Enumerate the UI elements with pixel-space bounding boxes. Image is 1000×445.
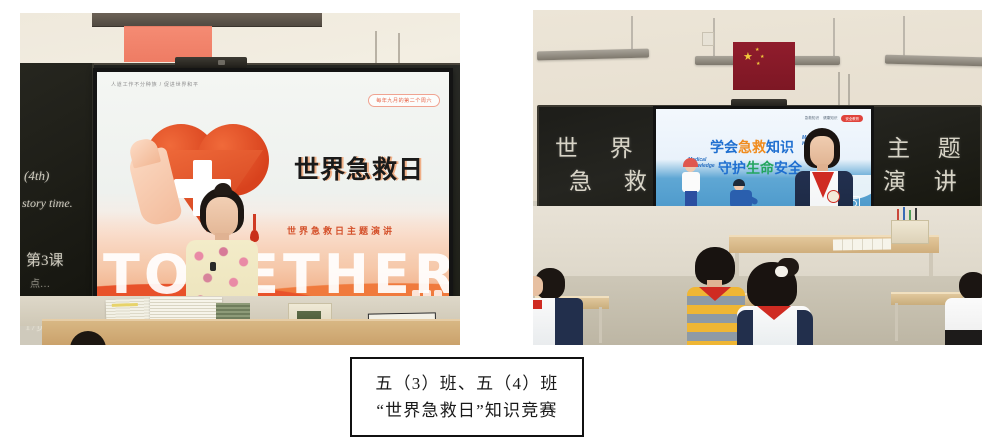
microphone-icon [210,262,216,271]
desk-leg [895,303,898,341]
slide-title-line2: 守护生命安全 [718,158,802,178]
slide-nav-item: 急救知识 [805,116,819,121]
presenter-student [180,188,264,313]
national-flag-icon: ★ ★ ★ ★ [733,42,795,90]
slide-watermark: TOGETHER [103,248,449,302]
caption-line-2: “世界急救日”知识竞赛 [376,401,557,421]
left-photo-blackboard-side-panel: (4th) story time. 第3课 点… 次第13.15.16题 17页 [20,63,94,309]
left-photo-display-screen: 人道工作不分种族 / 促进世界和平 每年九月的第二个周六 TOGETHER 世界… [93,68,453,308]
camera-bar-icon [175,57,247,68]
slide-logo-text: 世界急救日 [294,150,424,186]
chalk-text: 演 讲 [883,162,968,196]
chalk-text: 主 题 [887,129,972,163]
ceiling-light-bar [92,13,322,27]
seated-student [737,262,813,345]
slide-subtitle: 世界急救日主题演讲 [287,224,395,237]
slide-nav: 急救知识 健康知识 安全教育 [805,115,863,122]
teacher-desk [42,319,460,345]
chalk-text: (4th) [24,168,49,184]
paper-stack [833,238,891,250]
chalk-text: 点… [30,275,50,290]
antenna-icon [838,72,840,106]
seated-student [941,272,982,345]
chalk-text: story time. [22,196,73,211]
classroom-speech-photo-left: (4th) story time. 第3课 点… 次第13.15.16题 17页… [20,13,460,345]
slide-nav-item: 健康知识 [823,116,837,121]
slide-title-line1: 学会急救知识 [710,137,794,157]
document-page: (4th) story time. 第3课 点… 次第13.15.16题 17页… [0,0,1000,445]
desk-leg [599,307,602,343]
pen-holder [891,220,929,244]
antenna-icon [848,74,850,106]
slide-date-badge: 每年九月的第二个周六 [368,94,440,107]
figure-caption: 五（3）班、五（4）班 “世界急救日”知识竞赛 [350,357,584,437]
chalk-text: 急 救 [569,162,660,196]
classroom-speech-photo-right: ★ ★ ★ ★ 世 界 急 救 主 题 演 讲 急救知识 健康知识 安全教育 学… [533,10,982,345]
seated-student [533,268,591,345]
light-rod [833,18,835,56]
light-rod [903,16,905,56]
chalk-text: 世 界 [555,129,646,163]
chalk-text: 第3课 [26,249,64,270]
slide-nav-item-active: 安全教育 [841,115,863,122]
school-emblem-icon [827,190,840,203]
slide-top-line: 人道工作不分种族 / 促进世界和平 [111,81,199,88]
light-rod [631,16,633,50]
wall-switch [702,32,714,46]
left-slide: 人道工作不分种族 / 促进世界和平 每年九月的第二个周六 TOGETHER 世界… [97,72,449,304]
caption-line-1: 五（3）班、五（4）班 [375,374,558,394]
